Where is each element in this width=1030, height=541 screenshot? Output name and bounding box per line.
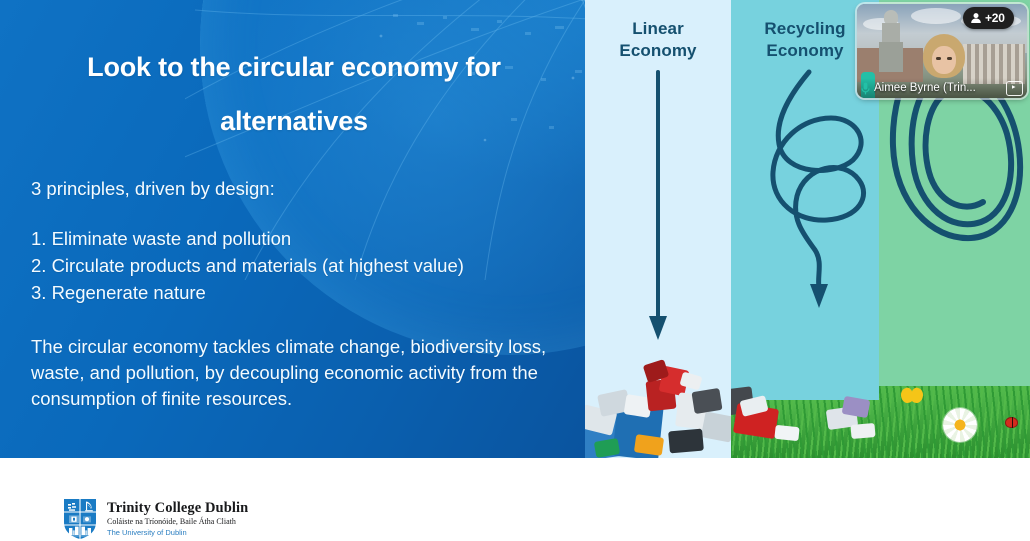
participants-count: +20 xyxy=(985,11,1005,25)
participant-name-bar: Aimee Byrne (Trin... xyxy=(857,78,1027,98)
pin-video-icon[interactable] xyxy=(1006,81,1023,96)
diagram-column-linear: Linear Economy xyxy=(585,0,731,458)
ladybug-icon xyxy=(1005,417,1018,428)
slide-title-line-2: alternatives xyxy=(30,94,558,148)
logo-name-english: Trinity College Dublin xyxy=(107,501,248,516)
slide-paragraph: The circular economy tackles climate cha… xyxy=(31,334,555,412)
slide-text-panel: Look to the circular economy for alterna… xyxy=(0,0,585,458)
scattered-waste-image xyxy=(731,358,879,458)
meadow-scene xyxy=(879,358,1030,458)
straight-down-arrow-icon xyxy=(585,0,731,370)
trinity-college-crest-icon xyxy=(63,498,97,540)
participants-count-badge[interactable]: +20 xyxy=(963,7,1014,29)
principles-list: 1. Eliminate waste and pollution 2. Circ… xyxy=(31,226,555,306)
slide-body: 3 principles, driven by design: 1. Elimi… xyxy=(31,176,555,412)
microphone-icon xyxy=(861,82,870,95)
slide-lead-text: 3 principles, driven by design: xyxy=(31,176,555,202)
principle-item: 2. Circulate products and materials (at … xyxy=(31,253,555,279)
logo-tagline: The University of Dublin xyxy=(107,529,248,537)
principle-item: 1. Eliminate waste and pollution xyxy=(31,226,555,252)
footer-bar: Trinity College Dublin Coláiste na Tríon… xyxy=(0,458,1030,541)
logo-wordmark: Trinity College Dublin Coláiste na Tríon… xyxy=(107,501,248,537)
campanile-landmark xyxy=(879,10,903,72)
principle-item: 3. Regenerate nature xyxy=(31,280,555,306)
trinity-college-dublin-logo: Trinity College Dublin Coláiste na Tríon… xyxy=(63,498,248,540)
logo-name-irish: Coláiste na Tríonóide, Baile Átha Cliath xyxy=(107,518,248,526)
slide-title: Look to the circular economy for alterna… xyxy=(30,40,558,148)
recycling-scene xyxy=(731,358,879,458)
person-icon xyxy=(970,12,982,24)
landfill-scene xyxy=(585,358,731,458)
meeting-screenshare-view: Look to the circular economy for alterna… xyxy=(0,0,1030,541)
butterfly-icon xyxy=(901,388,923,406)
waste-pile-image xyxy=(585,358,731,458)
daisy-flower-icon xyxy=(943,408,977,442)
participant-name: Aimee Byrne (Trin... xyxy=(874,82,1002,94)
slide-title-line-1: Look to the circular economy for xyxy=(30,40,558,94)
